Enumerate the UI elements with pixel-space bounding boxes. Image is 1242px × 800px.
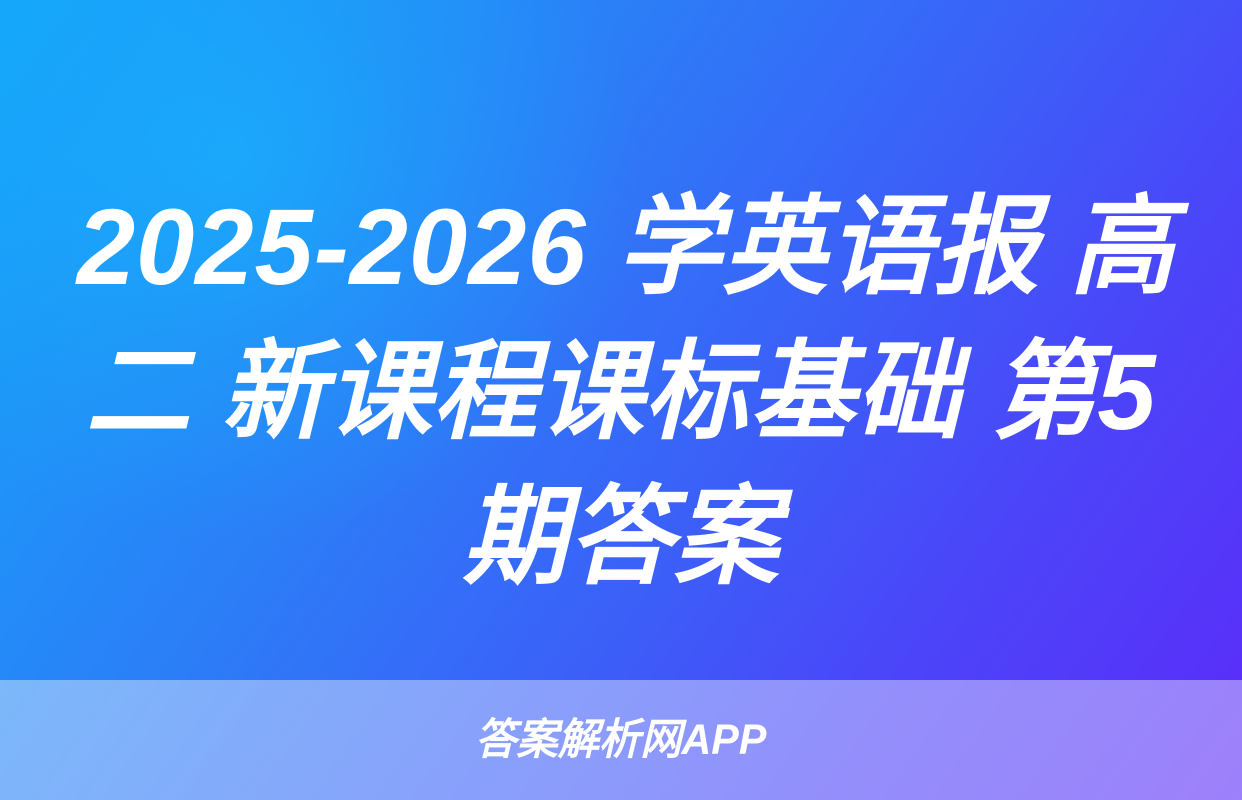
page-title-line-3: 期答案 xyxy=(77,464,1165,609)
page-title-line-2: 二 新课程课标基础 第5 xyxy=(77,319,1165,464)
footer-watermark-band: 答案解析网APP xyxy=(0,680,1242,800)
page-title-line-1: 2025-2026 学英语报 高 xyxy=(77,174,1165,319)
app-watermark-label: 答案解析网APP xyxy=(475,719,766,762)
page-title: 2025-2026 学英语报 高 二 新课程课标基础 第5 期答案 xyxy=(0,174,1242,609)
poster-canvas: 2025-2026 学英语报 高 二 新课程课标基础 第5 期答案 答案解析网A… xyxy=(0,0,1242,800)
